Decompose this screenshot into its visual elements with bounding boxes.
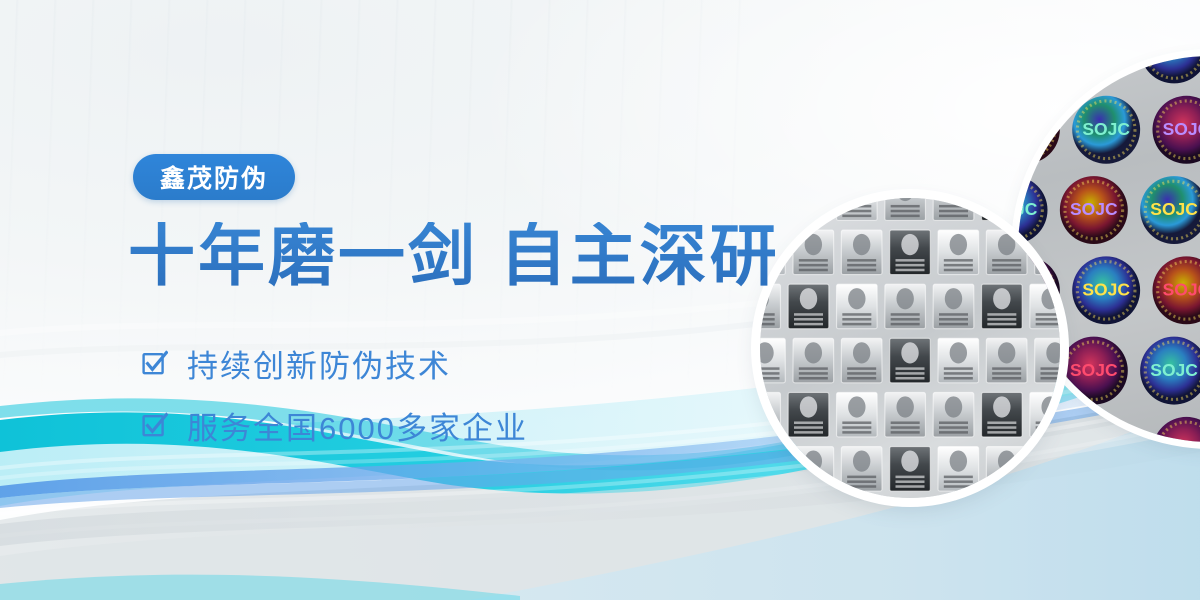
promo-banner: SOJCSOJCSOJCSOJCSOJCSOJCSOJCSOJCSOJCSOJC… <box>0 0 1200 600</box>
svg-text:SOJC: SOJC <box>1082 119 1130 139</box>
checkbox-checked-icon <box>142 412 168 438</box>
svg-text:SOJC: SOJC <box>1070 56 1118 58</box>
silver-label-sheet-photo <box>760 198 1060 498</box>
checkbox-checked-icon <box>142 350 168 376</box>
svg-text:SOJC: SOJC <box>1150 199 1198 219</box>
svg-text:SOJC: SOJC <box>1162 119 1200 139</box>
svg-text:SOJC: SOJC <box>1162 279 1200 299</box>
list-item: 持续创新防伪技术 <box>142 332 528 394</box>
svg-text:SOJC: SOJC <box>1018 56 1038 58</box>
page-title: 十年磨一剑 自主深研 <box>128 222 780 292</box>
svg-text:SOJC: SOJC <box>1162 440 1200 442</box>
svg-text:SOJC: SOJC <box>1018 119 1050 139</box>
feature-list: 持续创新防伪技术 服务全国6000多家企业 <box>142 332 528 456</box>
svg-text:SOJC: SOJC <box>1082 440 1130 442</box>
company-badge-label: 鑫茂防伪 <box>160 159 268 195</box>
silver-label-grid <box>760 198 1060 498</box>
svg-text:SOJC: SOJC <box>1070 360 1118 380</box>
list-item: 服务全国6000多家企业 <box>142 394 528 456</box>
feature-label: 持续创新防伪技术 <box>187 341 451 386</box>
svg-text:SOJC: SOJC <box>1070 199 1118 219</box>
svg-text:SOJC: SOJC <box>1082 279 1130 299</box>
feature-label: 服务全国6000多家企业 <box>187 403 528 448</box>
company-badge: 鑫茂防伪 <box>133 154 295 200</box>
svg-text:SOJC: SOJC <box>1150 56 1198 58</box>
svg-text:SOJC: SOJC <box>1150 360 1198 380</box>
